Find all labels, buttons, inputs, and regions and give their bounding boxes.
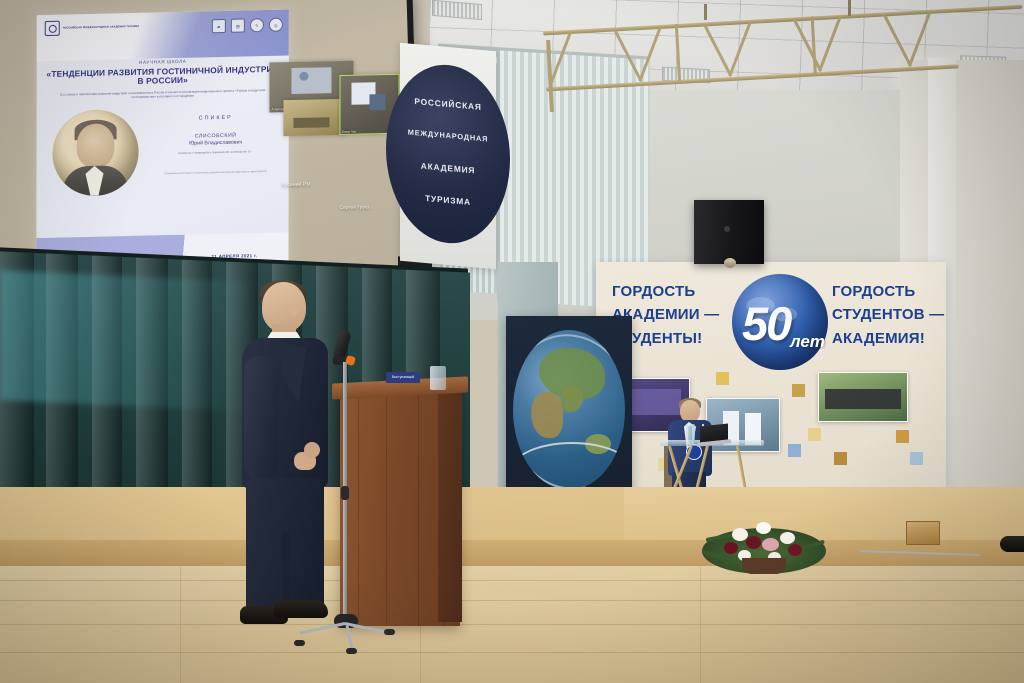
globe-art-panel	[506, 316, 632, 508]
flower-white	[756, 522, 771, 534]
decor-square	[834, 452, 847, 465]
tripod-foot	[294, 640, 305, 646]
truss-web	[908, 11, 931, 66]
truss-web	[818, 16, 841, 71]
banner-right-line-3: АКАДЕМИЯ!	[832, 327, 944, 350]
banner-right-text: ГОРДОСТЬ СТУДЕНТОВ — АКАДЕМИЯ!	[832, 280, 944, 350]
floor-plank-line	[0, 580, 1024, 581]
decor-square	[808, 428, 821, 441]
orbit-ring-2	[513, 442, 625, 490]
parquet-floor	[0, 566, 1024, 683]
decor-square	[788, 444, 801, 457]
speaker-arm	[244, 356, 278, 480]
speaker-given-name: Юрий Владиславович	[189, 140, 242, 147]
speaker-topic-note: Современное состояние и перспективы разв…	[153, 170, 279, 176]
truss-web	[728, 21, 751, 76]
speaker-driver	[724, 226, 730, 232]
truss-hanger	[848, 0, 851, 16]
floor-seam	[700, 566, 701, 683]
laptop	[700, 424, 728, 443]
portrait-face	[77, 123, 115, 168]
tripod-foot	[346, 648, 357, 654]
partner-logo-1-icon: ▰	[212, 19, 226, 33]
speaker-mount-bracket	[724, 258, 736, 268]
truss-hanger	[704, 4, 707, 20]
tripod-foot	[384, 629, 395, 635]
foreground-shoe	[1000, 536, 1024, 552]
partner-logo-3-icon: ✎	[250, 18, 264, 32]
drinking-glass	[430, 366, 446, 390]
speaker-ear	[290, 304, 299, 316]
floor-seam	[180, 566, 181, 683]
anniversary-globe-logo: 50 лет	[732, 274, 828, 370]
flower-red	[746, 536, 761, 549]
flower-red	[788, 544, 802, 556]
stand-adjust-knob	[341, 486, 349, 500]
circle-banner-line-1: РОССИЙСКАЯ	[386, 94, 510, 115]
decor-square	[716, 372, 729, 385]
truss-bottom-chord	[546, 64, 958, 91]
podium-nameplate: Выступающий	[386, 372, 420, 383]
pa-loudspeaker	[694, 200, 764, 264]
floor-plank-line	[0, 600, 1024, 601]
truss-web	[793, 19, 822, 72]
truss-web	[638, 26, 661, 81]
circle-banner-line-2: МЕЖДУНАРОДНАЯ	[386, 126, 510, 146]
decor-square	[792, 384, 805, 397]
speaker-role: основатель и председатель правления АО г…	[149, 150, 281, 157]
water-bottle	[688, 424, 695, 444]
banner-photo-class-outdoor	[818, 372, 908, 422]
banner-right-line-1: ГОРДОСТЬ	[832, 280, 944, 303]
participant-tile-2[interactable]	[283, 99, 345, 136]
partner-logo-row: ▰ ▤ ✎ ◎	[212, 18, 283, 34]
participant-name: Zoom Чат	[341, 130, 356, 134]
anniversary-wall-banner: ГОРДОСТЬ АКАДЕМИИ — СТУДЕНТЫ! 50 лет ГОР…	[596, 262, 946, 497]
truss-vertical	[675, 24, 681, 82]
nameplate-text: Выступающий	[386, 372, 420, 383]
truss-web	[703, 24, 732, 77]
partner-logo-4-icon: ◎	[269, 18, 283, 32]
participant-name-floating-1: Арсений Р.М.	[281, 182, 311, 189]
video-conference-gallery: Алексей С. Zoom Чат Арсений Р.М. Сергей …	[263, 52, 403, 295]
partner-logo-2-icon: ▤	[231, 19, 245, 33]
banner-right-line-2: СТУДЕНТОВ —	[832, 303, 944, 326]
podium-grain	[358, 388, 359, 626]
academy-logo: РОССИЙСКАЯ МЕЖДУНАРОДНАЯ АКАДЕМИЯ ТУРИЗМ…	[45, 19, 140, 36]
wooden-block	[906, 521, 940, 545]
academy-circle: РОССИЙСКАЯ МЕЖДУНАРОДНАЯ АКАДЕМИЯ ТУРИЗМ…	[386, 60, 510, 249]
flower-base	[742, 558, 786, 574]
participant-name-floating-2: Сергей Груш...	[339, 204, 373, 211]
slide-subtitle: Состояние и перспективы развития индустр…	[51, 88, 275, 102]
speaker-portrait	[52, 109, 138, 197]
curtain-light-reflection	[0, 270, 250, 411]
earth-painting	[513, 330, 625, 490]
decor-square	[896, 430, 909, 443]
decor-square	[910, 452, 923, 465]
flower-white	[780, 532, 795, 544]
flower-red	[724, 542, 738, 554]
flower-arrangement	[702, 498, 826, 578]
slide-title: «ТЕНДЕНЦИИ РАЗВИТИЯ ГОСТИНИЧНОЙ ИНДУСТРИ…	[43, 65, 283, 89]
truss-vertical	[811, 16, 817, 74]
anniversary-number: 50	[742, 296, 790, 351]
academy-circle-banner: РОССИЙСКАЯ МЕЖДУНАРОДНАЯ АКАДЕМИЯ ТУРИЗМ…	[400, 43, 496, 269]
podium-grain	[386, 388, 387, 626]
banner-left-line-1: ГОРДОСТЬ	[612, 280, 719, 303]
truss-web	[613, 29, 642, 82]
speaker-hand-second	[304, 442, 320, 458]
anniversary-word: лет	[790, 332, 825, 352]
circle-banner-line-3: АКАДЕМИЯ	[386, 158, 510, 179]
circle-banner-line-4: ТУРИЗМА	[386, 190, 510, 211]
truss-web	[883, 14, 912, 67]
floor-plank-line	[0, 624, 1024, 625]
podium-grain	[418, 388, 419, 626]
academy-logo-mark	[45, 21, 60, 36]
flower-pink	[762, 538, 779, 551]
floor-plank-line	[0, 652, 1024, 653]
presentation-slide: РОССИЙСКАЯ МЕЖДУНАРОДНАЯ АКАДЕМИЯ ТУРИЗМ…	[36, 10, 289, 281]
podium-side-panel	[438, 392, 462, 622]
academy-logo-text: РОССИЙСКАЯ МЕЖДУНАРОДНАЯ АКАДЕМИЯ ТУРИЗМ…	[63, 25, 140, 30]
speaker-shoe-back	[274, 600, 328, 618]
presenting-speaker	[236, 282, 342, 634]
conference-hall-photo: РОССИЙСКАЯ МЕЖДУНАРОДНАЯ АКАДЕМИЯ ТУРИЗМ…	[0, 0, 1024, 683]
